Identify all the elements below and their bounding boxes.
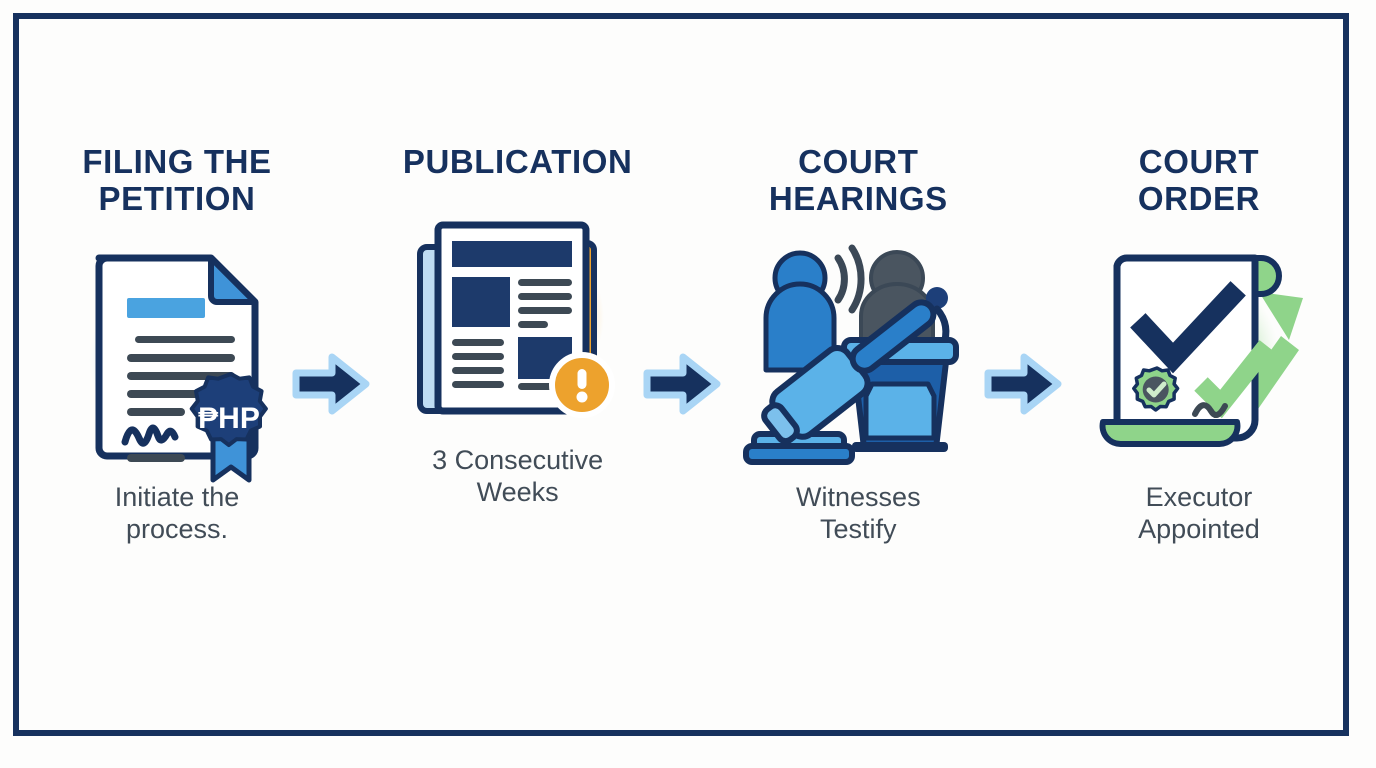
- right-arrow-icon-2: [645, 352, 719, 416]
- step-court-hearings: COURT HEARINGS: [725, 26, 991, 546]
- step-4-title: COURT ORDER: [1138, 144, 1260, 218]
- probate-process-infographic: FILING THE PETITION: [0, 0, 1376, 768]
- step-3-caption: Witnesses Testify: [796, 482, 921, 546]
- alert-badge-icon: [552, 355, 612, 415]
- right-arrow-icon-3: [986, 352, 1060, 416]
- step-1-caption: Initiate the process.: [115, 482, 240, 546]
- step-2-title: PUBLICATION: [403, 144, 633, 181]
- court-hearing-gavel-icon: [742, 236, 974, 468]
- step-3-title: COURT HEARINGS: [769, 144, 948, 218]
- step-court-order: COURT ORDER: [1066, 26, 1332, 546]
- scroll-bottom-curl: [1103, 422, 1238, 444]
- newspaper-icon: [402, 199, 634, 431]
- step-4-caption: Executor Appointed: [1138, 482, 1260, 546]
- court-order-scroll-icon: [1083, 236, 1315, 468]
- petition-document-icon: ₱HP: [61, 236, 293, 468]
- php-seal-label: ₱HP: [198, 402, 260, 435]
- step-1-title: FILING THE PETITION: [82, 144, 271, 218]
- right-arrow-icon-1: [294, 352, 368, 416]
- step-publication: PUBLICATION: [385, 26, 651, 509]
- step-2-caption: 3 Consecutive Weeks: [432, 445, 603, 509]
- step-filing-the-petition: FILING THE PETITION: [44, 26, 310, 546]
- sound-waves-icon: [838, 248, 861, 310]
